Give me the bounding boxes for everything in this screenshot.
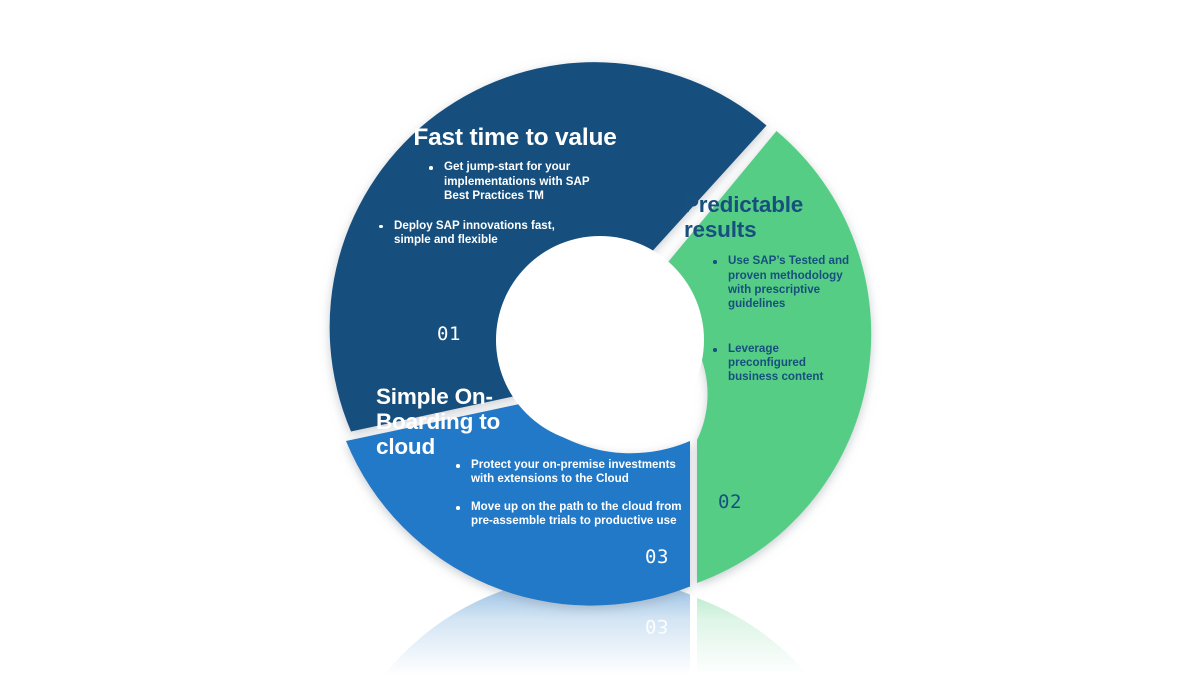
segment-03-bullet-1: Protect your on-premise investments with… — [456, 458, 696, 486]
donut-diagram-svg — [0, 0, 1200, 675]
segment-02-bullet-list: Use SAP’s Tested and proven methodology … — [684, 254, 864, 384]
bullet-dot-icon — [713, 260, 717, 264]
segment-03-bullet-1-text: Protect your on-premise investments with… — [471, 458, 676, 485]
segment-03-content: Protect your on-premise investments with… — [456, 458, 696, 529]
segment-02-title: Predictable results — [684, 192, 864, 242]
segment-02-bullet-2-text: Leverage preconfigured business content — [728, 342, 823, 383]
donut-center-hole — [496, 236, 704, 444]
segment-03-bullet-2: Move up on the path to the cloud from pr… — [456, 500, 696, 528]
segment-03-title-box: Simple On-Boarding to cloud — [376, 384, 506, 460]
bullet-dot-icon — [379, 225, 383, 229]
segment-01-bullet-2: Deploy SAP innovations fast, simple and … — [379, 219, 569, 247]
bullet-dot-icon — [713, 348, 717, 352]
segment-03-title: Simple On-Boarding to cloud — [376, 384, 506, 460]
segment-01-bullet-list: Get jump-start for your implementations … — [370, 160, 660, 247]
segment-01-number: 01 — [437, 323, 461, 345]
segment-03-number-reflection: 03 — [645, 615, 669, 637]
segment-02-bullet-1-text: Use SAP’s Tested and proven methodology … — [728, 254, 849, 309]
segment-01-bullet-1-text: Get jump-start for your implementations … — [444, 160, 589, 201]
segment-02-bullet-1: Use SAP’s Tested and proven methodology … — [713, 254, 868, 311]
segment-02-number: 02 — [718, 491, 742, 513]
segment-02-content: Predictable results Use SAP’s Tested and… — [684, 192, 864, 384]
segment-01-title: Fast time to value — [370, 124, 660, 151]
segment-03-bullet-list: Protect your on-premise investments with… — [456, 458, 696, 529]
bullet-dot-icon — [456, 464, 460, 468]
diagram-canvas: Fast time to value Get jump-start for yo… — [0, 0, 1200, 675]
segment-01-content: Fast time to value Get jump-start for yo… — [370, 124, 660, 247]
bullet-dot-icon — [429, 166, 433, 170]
segment-02-bullet-2: Leverage preconfigured business content — [713, 342, 853, 384]
segment-01-bullet-2-text: Deploy SAP innovations fast, simple and … — [394, 219, 555, 246]
bullet-dot-icon — [456, 506, 460, 510]
segment-03-bullet-2-text: Move up on the path to the cloud from pr… — [471, 500, 682, 527]
segment-01-bullet-1: Get jump-start for your implementations … — [429, 160, 594, 202]
segment-03-number: 03 — [645, 546, 669, 568]
